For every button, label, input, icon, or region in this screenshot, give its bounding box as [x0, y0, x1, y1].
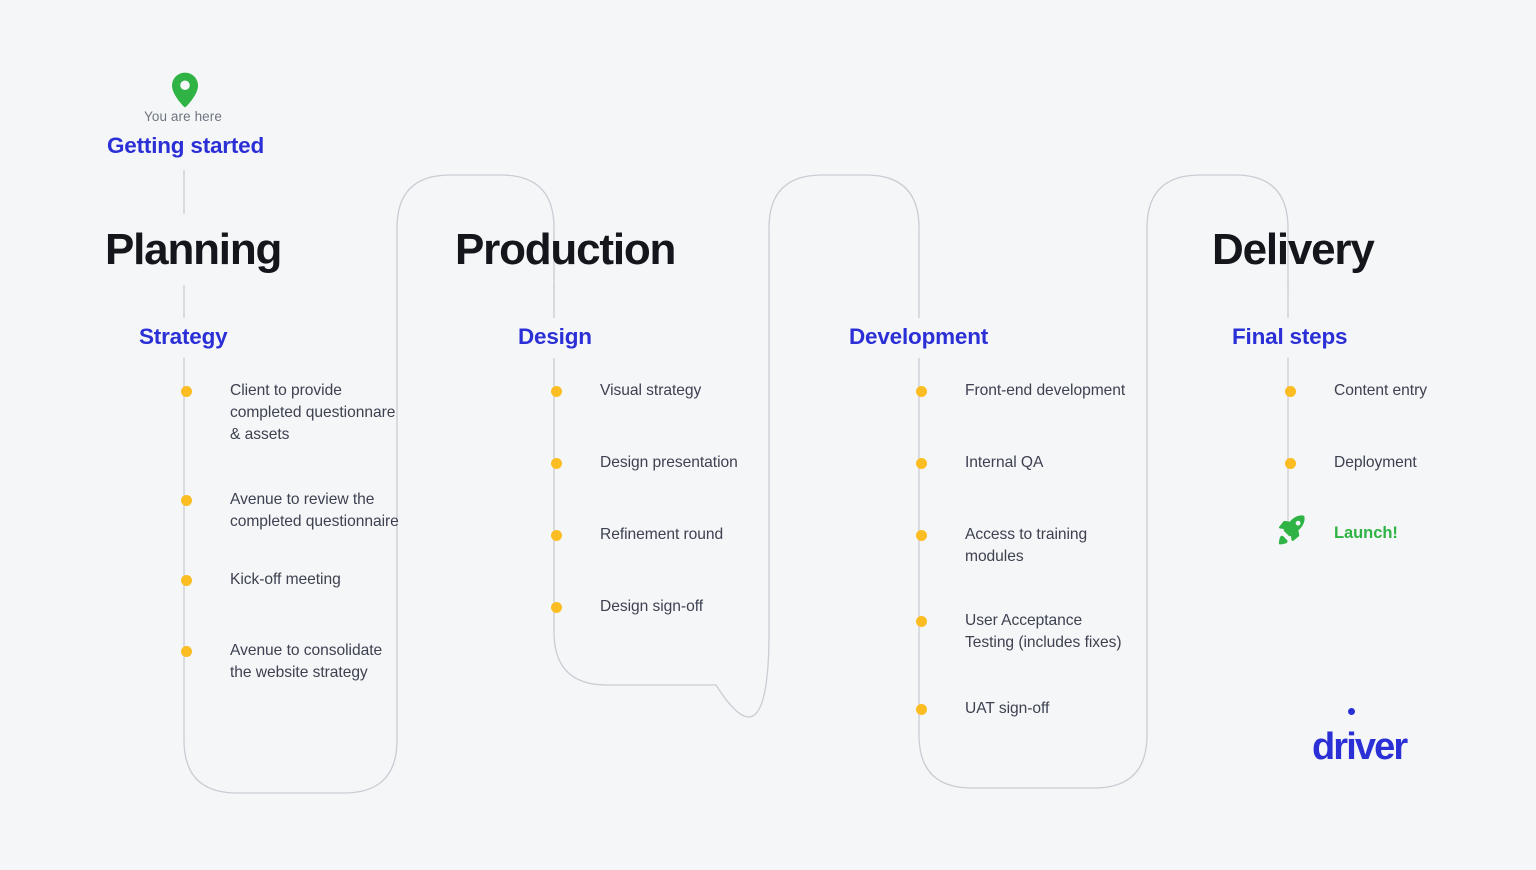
bullet-dot-icon: [1285, 458, 1296, 469]
brand-i-dot-icon: [1348, 708, 1355, 715]
phase-title-planning: Planning: [105, 228, 281, 272]
phase-title-delivery: Delivery: [1212, 228, 1374, 272]
task-item[interactable]: Avenue to consolidate the website strate…: [184, 640, 399, 684]
task-item[interactable]: Refinement round: [554, 524, 784, 546]
task-label: Deployment: [1334, 454, 1417, 471]
you-are-here-caption: You are here: [107, 109, 259, 124]
brand-logo-part-2: i: [1346, 728, 1355, 766]
bullet-dot-icon: [916, 616, 927, 627]
task-item[interactable]: Deployment: [1288, 452, 1503, 474]
task-list-strategy: Client to provide completed questionnare…: [184, 380, 399, 684]
bullet-dot-icon: [916, 458, 927, 469]
brand-logo-i-stem: i: [1346, 726, 1355, 768]
task-label: Visual strategy: [600, 382, 701, 399]
bullet-dot-icon: [181, 646, 192, 657]
group-heading-strategy: Strategy: [139, 326, 227, 349]
task-label: Access to training modules: [965, 526, 1087, 565]
brand-logo-part-1: dr: [1312, 728, 1346, 766]
bullet-dot-icon: [916, 386, 927, 397]
task-item[interactable]: Internal QA: [919, 452, 1134, 474]
task-list-final-steps: Content entry Deployment Launch!: [1288, 380, 1503, 544]
task-label: Content entry: [1334, 382, 1427, 399]
brand-logo-part-3: ver: [1355, 728, 1406, 766]
task-item[interactable]: Visual strategy: [554, 380, 784, 402]
task-item[interactable]: Design sign-off: [554, 596, 784, 618]
task-label: User Acceptance Testing (includes fixes): [965, 612, 1122, 651]
task-item-launch[interactable]: Launch!: [1288, 522, 1503, 544]
task-label: UAT sign-off: [965, 700, 1049, 717]
task-label: Front-end development: [965, 382, 1125, 399]
map-pin-icon: [172, 72, 198, 108]
task-item[interactable]: Avenue to review the completed questionn…: [184, 489, 399, 533]
bullet-dot-icon: [916, 704, 927, 715]
task-list-design: Visual strategy Design presentation Refi…: [554, 380, 784, 618]
bullet-dot-icon: [181, 495, 192, 506]
task-label: Launch!: [1334, 524, 1398, 542]
task-label: Refinement round: [600, 526, 723, 543]
bullet-dot-icon: [551, 386, 562, 397]
task-item[interactable]: Client to provide completed questionnare…: [184, 380, 399, 446]
group-heading-final-steps: Final steps: [1232, 326, 1347, 349]
bullet-dot-icon: [916, 530, 927, 541]
task-label: Internal QA: [965, 454, 1043, 471]
task-item[interactable]: Design presentation: [554, 452, 784, 474]
you-are-here-marker: You are here Getting started: [107, 72, 407, 159]
task-label: Kick-off meeting: [230, 571, 341, 588]
task-item[interactable]: Access to training modules: [919, 524, 1134, 568]
task-item[interactable]: Content entry: [1288, 380, 1503, 402]
task-label: Avenue to review the completed questionn…: [230, 491, 399, 530]
task-item[interactable]: Front-end development: [919, 380, 1134, 402]
phase-title-production: Production: [455, 228, 675, 272]
bullet-dot-icon: [551, 530, 562, 541]
task-list-development: Front-end development Internal QA Access…: [919, 380, 1134, 720]
task-item[interactable]: UAT sign-off: [919, 698, 1134, 720]
bullet-dot-icon: [181, 386, 192, 397]
task-item[interactable]: User Acceptance Testing (includes fixes): [919, 610, 1134, 654]
bullet-dot-icon: [181, 575, 192, 586]
rocket-icon: [1275, 514, 1307, 546]
getting-started-label: Getting started: [107, 133, 407, 159]
bullet-dot-icon: [551, 458, 562, 469]
task-label: Design sign-off: [600, 598, 703, 615]
group-heading-design: Design: [518, 326, 592, 349]
task-label: Design presentation: [600, 454, 738, 471]
bullet-dot-icon: [1285, 386, 1296, 397]
group-heading-development: Development: [849, 326, 988, 349]
roadmap-canvas: You are here Getting started Planning Pr…: [0, 0, 1536, 870]
task-label: Client to provide completed questionnare…: [230, 382, 395, 443]
task-item[interactable]: Kick-off meeting: [184, 569, 399, 591]
brand-logo: dr i ver: [1312, 728, 1406, 766]
bullet-dot-icon: [551, 602, 562, 613]
task-label: Avenue to consolidate the website strate…: [230, 642, 382, 681]
